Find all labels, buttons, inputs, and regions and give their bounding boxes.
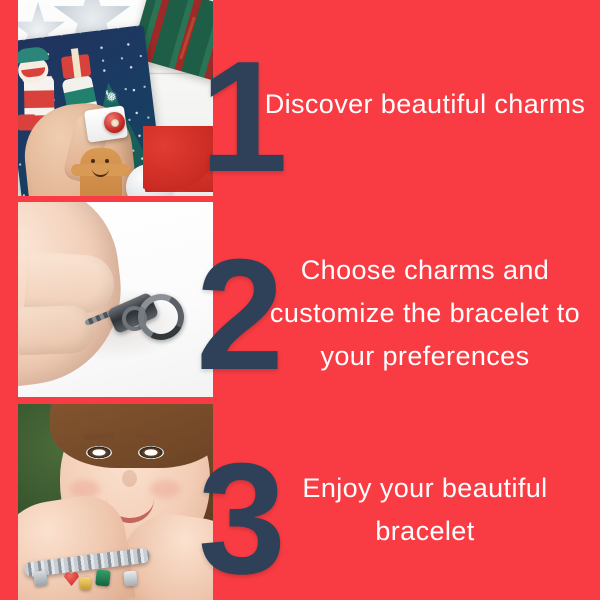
step-text-2-line-2: customize the bracelet to xyxy=(245,292,600,335)
step-photo-1: ❄ ❅ ❆ xyxy=(18,0,213,196)
step-text-1: Discover beautiful charms xyxy=(245,83,600,126)
step-text-2-line-3: your preferences xyxy=(245,335,600,378)
gingerbread-eye-left xyxy=(91,159,95,163)
step-text-3-line-1: Enjoy your beautiful xyxy=(245,467,600,510)
nose xyxy=(122,470,137,487)
bracelet-charm-green xyxy=(95,569,111,586)
gift-illustration xyxy=(61,54,91,79)
eye-left xyxy=(86,446,112,459)
promo-poster: ❄ ❅ ❆ 1 Discover beautiful charms xyxy=(0,0,600,600)
hair xyxy=(50,404,213,468)
red-charm-bead xyxy=(104,112,125,133)
step-text-2-line-1: Choose charms and xyxy=(245,249,600,292)
eye-right xyxy=(138,446,164,459)
cheek-right xyxy=(150,480,180,498)
step-text-3-line-2: bracelet xyxy=(245,510,600,553)
step-text-1-line-1: Discover beautiful charms xyxy=(245,83,600,126)
gingerbread-eye-right xyxy=(105,159,109,163)
bracelet-charm-gold xyxy=(80,577,91,590)
step-photo-2 xyxy=(18,202,213,397)
bracelet-charm-silver xyxy=(33,570,48,587)
snowflake-icon: ❅ xyxy=(105,91,117,105)
step-text-2: Choose charms and customize the bracelet… xyxy=(245,249,600,378)
gingerbread-smile xyxy=(92,167,109,177)
step-photo-3 xyxy=(18,404,213,600)
step-text-3: Enjoy your beautiful bracelet xyxy=(245,467,600,553)
gingerbread-man-cookie xyxy=(80,148,122,196)
middle-finger xyxy=(18,305,95,356)
bracelet-charm-silver-2 xyxy=(123,570,137,586)
